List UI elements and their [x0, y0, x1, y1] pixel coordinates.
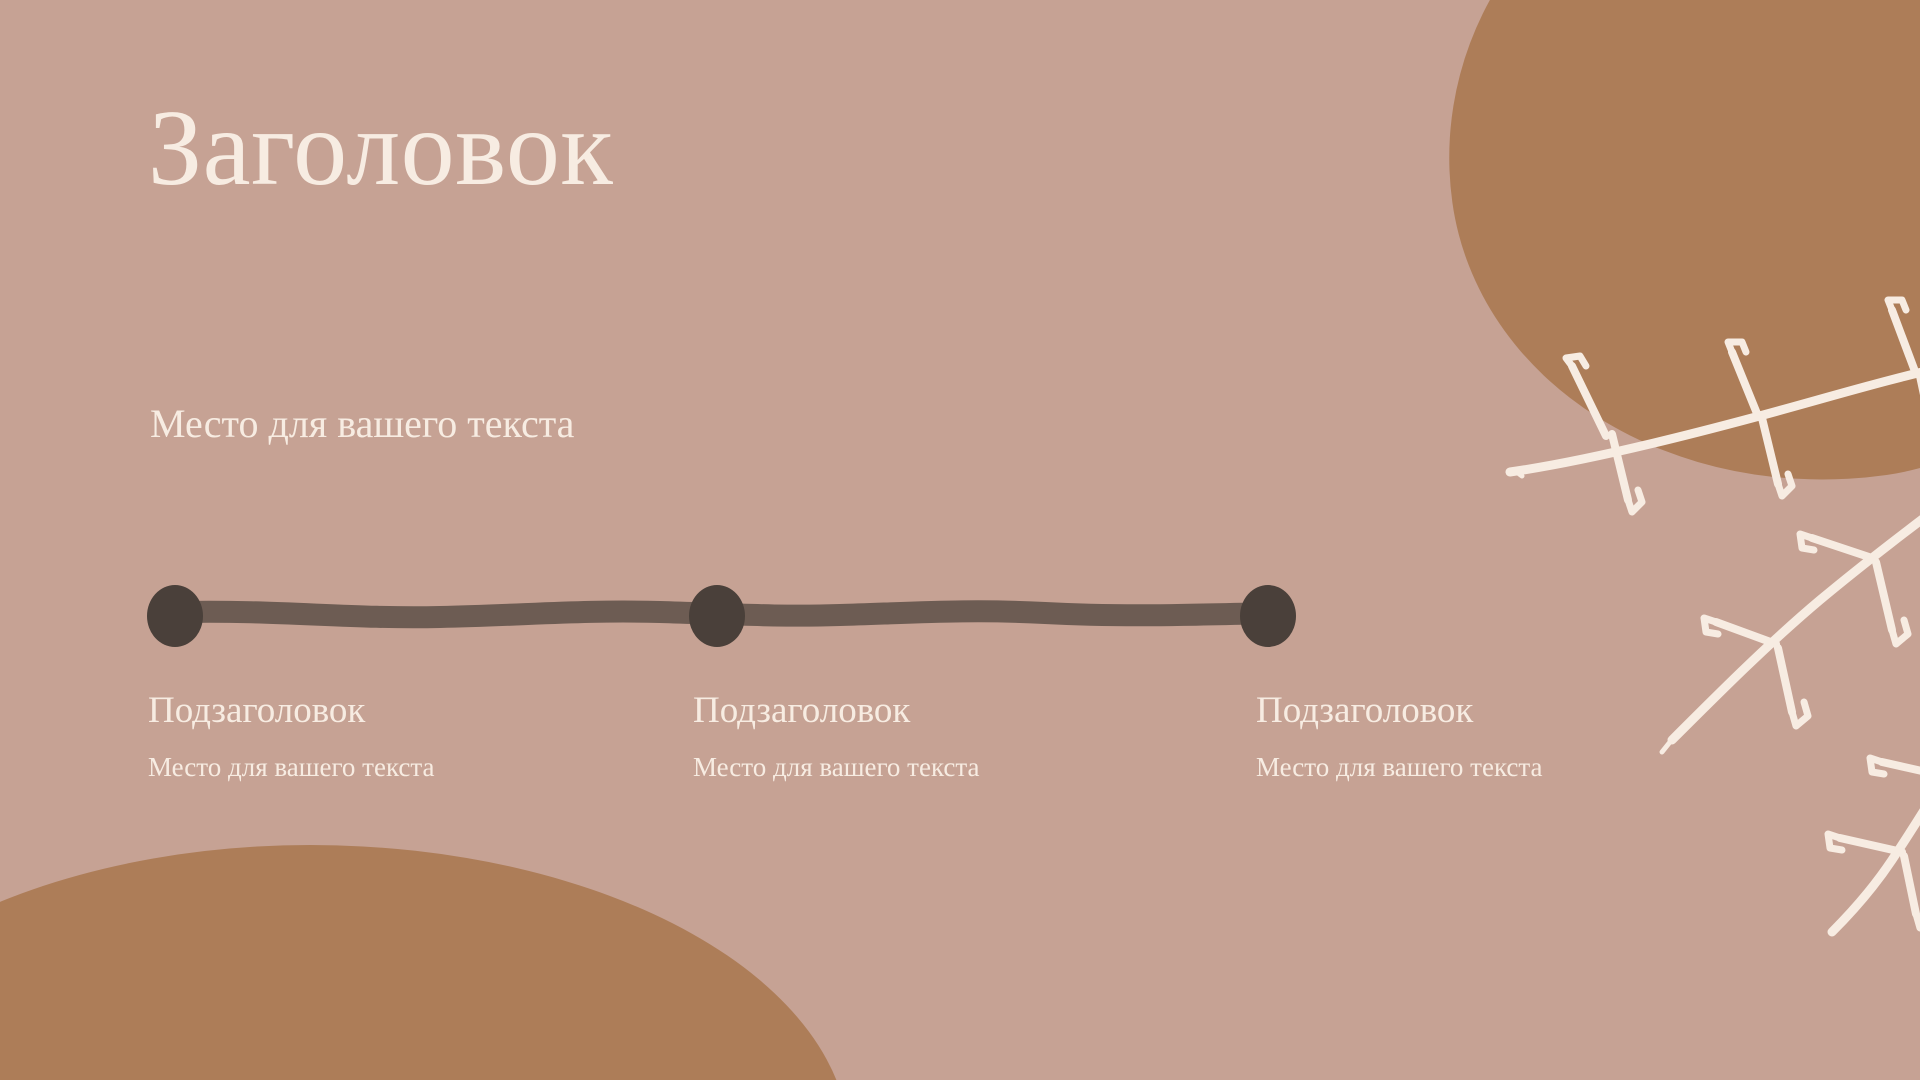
timeline-graphic: [140, 580, 1305, 652]
timeline-columns: Подзаголовок Место для вашего текста Под…: [148, 690, 1548, 810]
column-body-text: Место для вашего текста: [148, 751, 578, 783]
timeline-column-3: Подзаголовок Место для вашего текста: [1256, 690, 1686, 783]
timeline-dot-3[interactable]: [1240, 585, 1296, 647]
column-body-text: Место для вашего текста: [1256, 751, 1686, 783]
column-heading: Подзаголовок: [148, 690, 578, 733]
timeline-column-2: Подзаголовок Место для вашего текста: [693, 690, 1123, 783]
presentation-slide: Заголовок Место для вашего текста Подзаг…: [0, 0, 1920, 1080]
timeline-dot-2[interactable]: [689, 585, 745, 647]
timeline-column-1: Подзаголовок Место для вашего текста: [148, 690, 578, 783]
timeline-dot-1[interactable]: [147, 585, 203, 647]
page-subtitle: Место для вашего текста: [150, 400, 574, 448]
column-heading: Подзаголовок: [1256, 690, 1686, 733]
slide-content: Заголовок Место для вашего текста Подзаг…: [0, 0, 1920, 1080]
column-heading: Подзаголовок: [693, 690, 1123, 733]
page-title: Заголовок: [148, 92, 613, 205]
column-body-text: Место для вашего текста: [693, 751, 1123, 783]
